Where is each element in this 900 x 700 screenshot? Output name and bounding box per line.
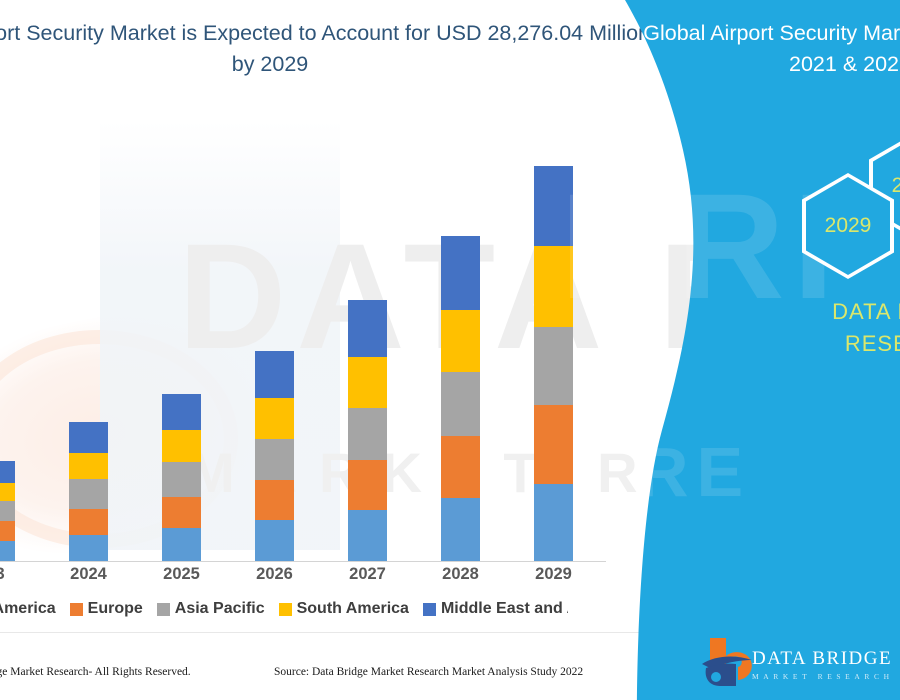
bar-segment-2029-north-america	[534, 484, 573, 561]
bar-segment-2025-middle-east-and-africa	[162, 394, 201, 430]
legend-swatch-icon	[157, 603, 170, 616]
infographic-canvas: DATA BRIDGE MARKET RESEARCH Global Airpo…	[0, 0, 900, 700]
bar-segment-2029-south-america	[534, 246, 573, 327]
bar-segment-2028-europe	[441, 436, 480, 498]
legend-swatch-icon	[279, 603, 292, 616]
x-label-2026: 2026	[245, 565, 305, 584]
legend-label: South America	[297, 600, 409, 618]
bar-segment-2029-asia-pacific	[534, 327, 573, 405]
bar-segment-2024-south-america	[69, 453, 108, 479]
bar-segment-2023-europe	[0, 521, 15, 542]
bar-segment-2024-asia-pacific	[69, 479, 108, 509]
bar-segment-2028-asia-pacific	[441, 372, 480, 436]
legend-label: Europe	[88, 600, 143, 618]
panel-brand-text: DATA BRIDGE RESEARCH	[700, 296, 900, 360]
x-label-2024: 2024	[59, 565, 119, 584]
legend-item-europe: Europe	[70, 600, 143, 618]
bar-segment-2023-middle-east-and-africa	[0, 461, 15, 483]
logo-name: DATA BRIDGE	[752, 648, 894, 670]
bar-segment-2026-south-america	[255, 398, 294, 438]
panel-title: Global Airport Security Market, By Regio…	[640, 18, 900, 80]
bar-segment-2027-europe	[348, 460, 387, 510]
legend-item-asia-pacific: Asia Pacific	[157, 600, 265, 618]
bar-2023	[0, 461, 15, 561]
bar-segment-2025-asia-pacific	[162, 462, 201, 497]
bar-segment-2024-north-america	[69, 535, 108, 561]
bar-segment-2027-asia-pacific	[348, 408, 387, 460]
bar-segment-2025-north-america	[162, 528, 201, 561]
legend-swatch-icon	[423, 603, 436, 616]
bar-2026	[255, 351, 294, 561]
bar-2024	[69, 422, 108, 561]
footer-divider	[0, 632, 660, 633]
x-axis-labels: 23202420252026202720282029	[0, 565, 620, 589]
x-axis-line	[0, 561, 606, 562]
bar-segment-2025-south-america	[162, 430, 201, 463]
x-label-2027: 2027	[338, 565, 398, 584]
panel-brand-line2: RESEARCH	[700, 328, 900, 360]
bar-segment-2026-europe	[255, 480, 294, 520]
bar-segment-2023-south-america	[0, 483, 15, 501]
bar-2025	[162, 394, 201, 561]
x-label-2029: 2029	[524, 565, 584, 584]
bar-segment-2026-north-america	[255, 520, 294, 561]
bar-2027	[348, 300, 387, 561]
bar-2028	[441, 236, 480, 561]
bar-segment-2027-middle-east-and-africa	[348, 300, 387, 357]
footer-copyright: © 2022 Data Bridge Market Research- All …	[0, 666, 191, 678]
legend-label: Middle East and Africa	[441, 600, 568, 618]
bar-segment-2029-europe	[534, 405, 573, 484]
legend-swatch-icon	[70, 603, 83, 616]
footer-source: Source: Data Bridge Market Research Mark…	[274, 666, 583, 678]
x-label-2025: 2025	[152, 565, 212, 584]
bar-segment-2023-north-america	[0, 541, 15, 561]
bar-segment-2026-middle-east-and-africa	[255, 351, 294, 399]
bar-segment-2024-europe	[69, 509, 108, 535]
page-title: Global Airport Security Market is Expect…	[0, 18, 660, 80]
bar-segment-2027-north-america	[348, 510, 387, 561]
logo-tagline: MARKET RESEARCH	[752, 672, 894, 681]
legend-label: Asia Pacific	[175, 600, 265, 618]
bar-segment-2027-south-america	[348, 357, 387, 408]
chart-legend: North AmericaEuropeAsia PacificSouth Ame…	[0, 596, 568, 622]
panel-watermark-bottom: RE	[638, 432, 751, 512]
bar-segment-2028-south-america	[441, 310, 480, 373]
hexagon-label-2029: 2029	[806, 177, 890, 275]
bar-segment-2026-asia-pacific	[255, 439, 294, 480]
legend-item-middle-east-and-africa: Middle East and Africa	[423, 600, 568, 618]
bar-segment-2028-middle-east-and-africa	[441, 236, 480, 310]
legend-label: North America	[0, 600, 56, 618]
logo-wordmark: DATA BRIDGE MARKET RESEARCH	[752, 648, 894, 681]
bar-segment-2023-asia-pacific	[0, 501, 15, 521]
x-label-2023: 23	[0, 565, 26, 584]
bar-2029	[534, 166, 573, 561]
legend-item-south-america: South America	[279, 600, 409, 618]
bar-segment-2028-north-america	[441, 498, 480, 561]
bar-segment-2029-middle-east-and-africa	[534, 166, 573, 245]
legend-item-north-america: North America	[0, 600, 56, 618]
x-label-2028: 2028	[431, 565, 491, 584]
panel-brand-line1: DATA BRIDGE	[700, 296, 900, 328]
stacked-bar-chart	[0, 150, 620, 562]
bar-segment-2025-europe	[162, 497, 201, 528]
bar-segment-2024-middle-east-and-africa	[69, 422, 108, 452]
